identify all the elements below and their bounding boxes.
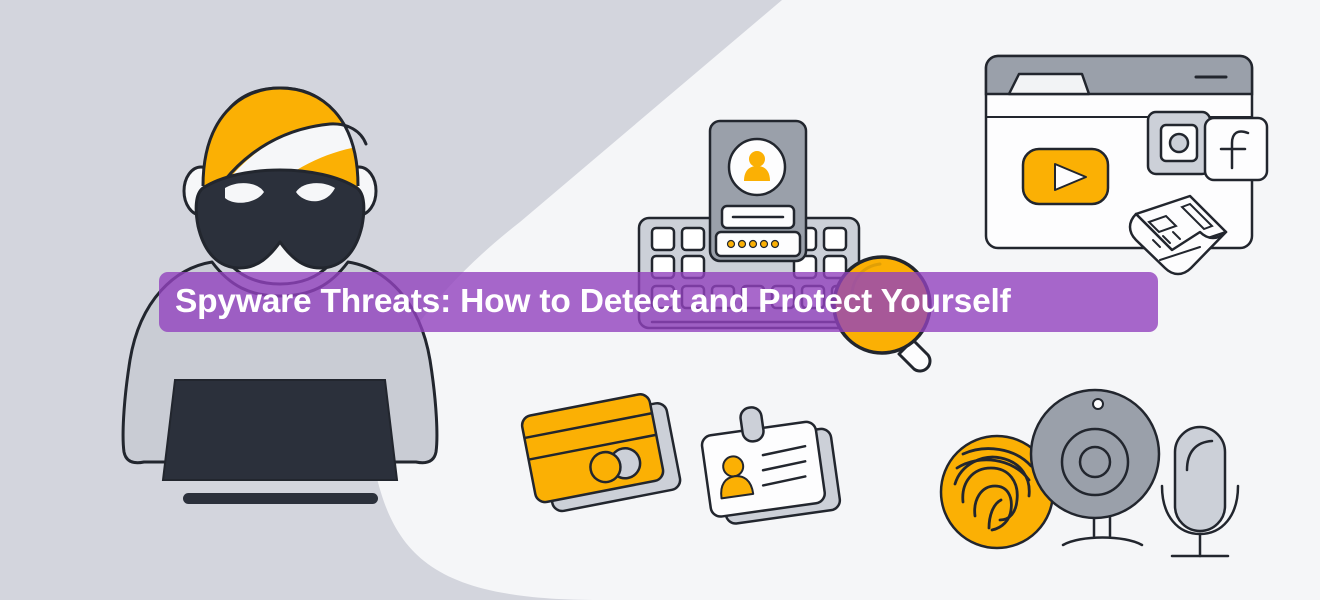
camera-icon-lens bbox=[1170, 134, 1188, 152]
browser-window bbox=[986, 56, 1267, 274]
browser-tab[interactable] bbox=[1009, 74, 1089, 94]
microphone-capsule bbox=[1175, 427, 1225, 531]
id-badge-clip bbox=[739, 406, 765, 443]
webcam-icon bbox=[1031, 390, 1159, 545]
page-title: Spyware Threats: How to Detect and Prote… bbox=[159, 285, 1011, 319]
webcam-stand-base bbox=[1063, 538, 1142, 546]
laptop-screen bbox=[163, 380, 397, 480]
hero-banner: Spyware Threats: How to Detect and Prote… bbox=[0, 0, 1320, 600]
laptop-base bbox=[183, 493, 378, 504]
id-badge-icon bbox=[698, 397, 841, 527]
microphone-icon bbox=[1162, 427, 1238, 556]
title-banner: Spyware Threats: How to Detect and Prote… bbox=[159, 272, 1158, 332]
webcam-indicator-light bbox=[1093, 399, 1103, 409]
webcam-body bbox=[1031, 390, 1159, 518]
credit-card-icon bbox=[520, 390, 681, 516]
